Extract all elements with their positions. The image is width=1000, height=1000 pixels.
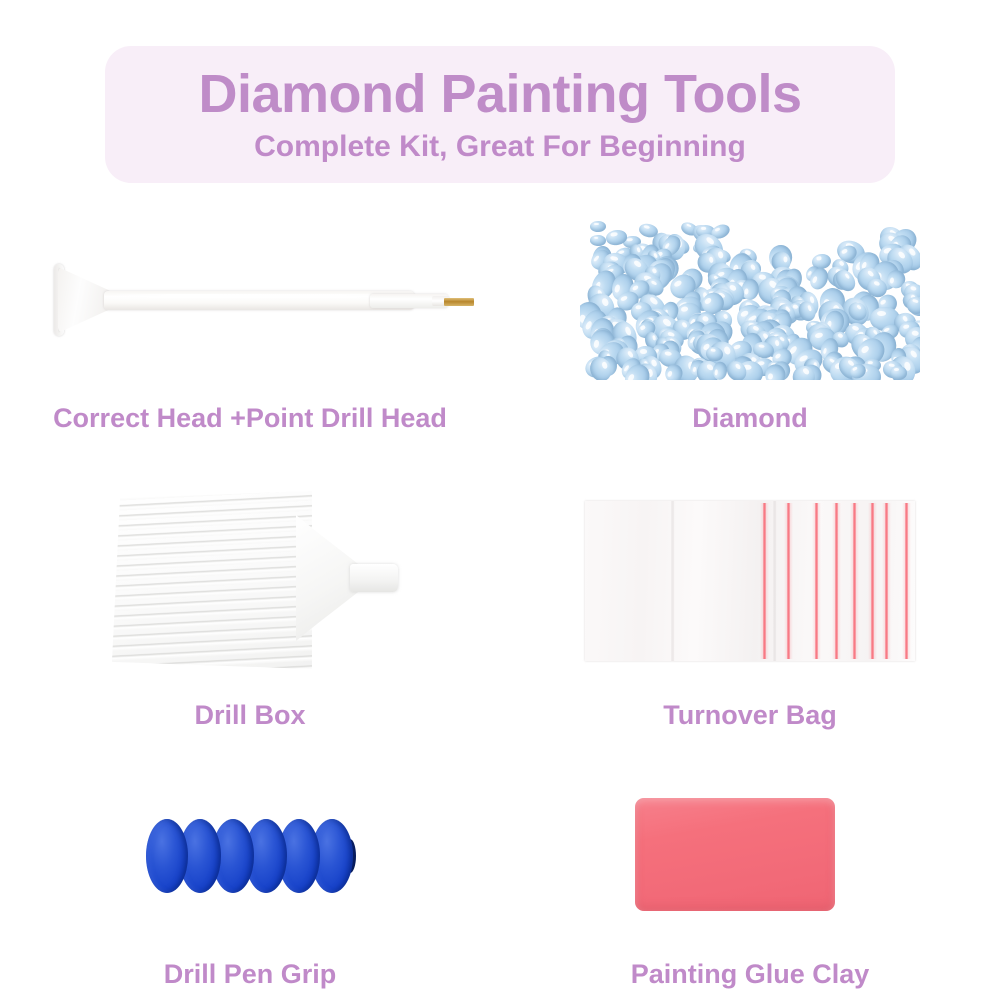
product-cell-painting-glue-clay: Painting Glue Clay (500, 783, 1000, 990)
pen-grip-segment (146, 819, 188, 893)
turnover-bag-folds (585, 501, 915, 661)
drill-box-handle (350, 564, 398, 592)
turnover-bag-zip-line (871, 503, 874, 659)
page-subtitle: Complete Kit, Great For Beginning (254, 131, 746, 163)
turnover-bag-photo (535, 476, 965, 686)
product-label-drill-box: Drill Box (194, 700, 305, 731)
diamond-drills-photo (535, 205, 965, 395)
product-grid: Correct Head +Point Drill Head Diamond (0, 205, 1000, 990)
product-cell-correct-head-point-drill-head: Correct Head +Point Drill Head (0, 205, 500, 434)
header-banner: Diamond Painting Tools Complete Kit, Gre… (105, 46, 895, 183)
turnover-bag-illustration (585, 501, 915, 661)
product-cell-diamond: Diamond (500, 205, 1000, 434)
drill-pen-illustration (40, 245, 460, 355)
product-label-turnover-bag: Turnover Bag (663, 700, 837, 731)
glue-clay-block (635, 798, 835, 911)
pen-gold-tip-icon (444, 298, 474, 306)
turnover-bag-zip-line (815, 503, 818, 659)
glue-clay-photo (535, 783, 965, 933)
diamond-drill-bead (590, 221, 606, 232)
turnover-bag-zip-line (763, 503, 766, 659)
product-cell-drill-pen-grip: Drill Pen Grip (0, 783, 500, 990)
drill-box-ridges (112, 491, 312, 669)
turnover-bag-zip-line (905, 503, 908, 659)
product-label-painting-glue-clay: Painting Glue Clay (631, 959, 870, 990)
product-label-diamond: Diamond (692, 403, 808, 434)
product-row-1: Correct Head +Point Drill Head Diamond (0, 205, 1000, 434)
drill-box-photo (35, 476, 465, 686)
product-label-drill-pen-grip: Drill Pen Grip (164, 959, 337, 990)
diamond-drills-illustration (580, 220, 920, 380)
page-title: Diamond Painting Tools (199, 66, 802, 123)
turnover-bag-zip-line (835, 503, 838, 659)
product-infographic: Diamond Painting Tools Complete Kit, Gre… (0, 0, 1000, 1000)
diamond-drill-bead (890, 366, 907, 380)
drill-pen-photo (35, 205, 465, 395)
pen-grip-illustration (140, 813, 360, 903)
product-cell-turnover-bag: Turnover Bag (500, 476, 1000, 731)
product-row-3: Drill Pen Grip Painting Glue Clay (0, 783, 1000, 990)
drill-box-illustration (100, 481, 400, 681)
glue-clay-illustration (635, 798, 865, 918)
turnover-bag-zip-line (853, 503, 856, 659)
pen-highlight (110, 294, 400, 298)
turnover-bag-zip-line (885, 503, 888, 659)
turnover-bag-zip-line (787, 503, 790, 659)
diamond-drill-bead (589, 235, 605, 246)
diamond-drill-bead (712, 362, 728, 380)
pen-grip-photo (35, 783, 465, 933)
product-cell-drill-box: Drill Box (0, 476, 500, 731)
product-row-2: Drill Box Turnover Bag (0, 476, 1000, 731)
product-label-correct-head-point-drill-head: Correct Head +Point Drill Head (53, 403, 447, 434)
pen-correct-head-flare (58, 267, 110, 333)
